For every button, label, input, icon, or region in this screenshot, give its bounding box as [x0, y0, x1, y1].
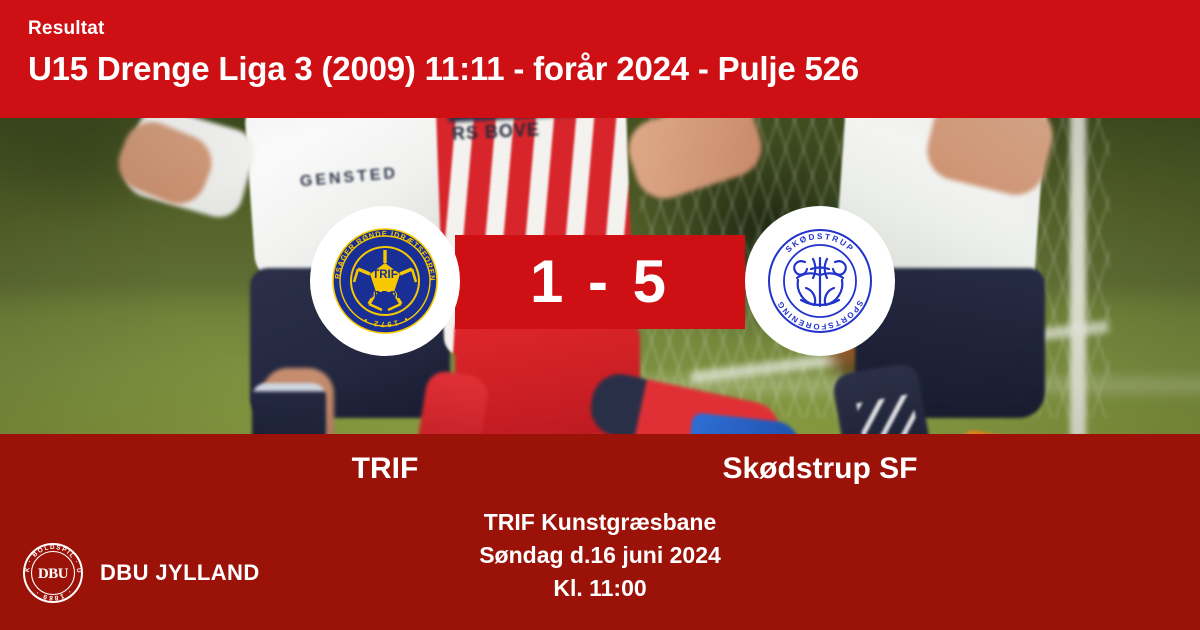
score-value: 1 - 5 — [530, 252, 670, 312]
svg-text:SKØDSTRUP: SKØDSTRUP — [784, 232, 856, 254]
away-team-logo: SKØDSTRUP SPORTSFORENING — [745, 206, 895, 356]
skodstrup-club-crest-icon: SKØDSTRUP SPORTSFORENING — [761, 222, 879, 340]
svg-text:FODBOLD: FODBOLD — [360, 290, 409, 301]
match-venue: TRIF Kunstgræsbane — [0, 506, 1200, 539]
home-team-logo: THORSAGER RØNDE IDRÆTSFORENING • 1972 • … — [310, 206, 460, 356]
svg-text:DBU: DBU — [38, 566, 69, 582]
dbu-footer: DANSK · BOLDSPIL · UNION · 1889 · DBU DB… — [22, 542, 260, 604]
home-team-name: TRIF — [250, 448, 520, 490]
poster-footer: TRIF Skødstrup SF TRIF Kunstgræsbane Søn… — [0, 434, 1200, 630]
away-team-name: Skødstrup SF — [685, 448, 955, 490]
team-names-row: TRIF Skødstrup SF — [0, 448, 1200, 494]
trif-club-crest-icon: THORSAGER RØNDE IDRÆTSFORENING • 1972 • … — [326, 222, 444, 340]
svg-text:TRIF: TRIF — [372, 269, 398, 281]
dbu-badge-icon: DANSK · BOLDSPIL · UNION · 1889 · DBU — [22, 542, 84, 604]
dbu-organisation-label: DBU JYLLAND — [100, 560, 260, 586]
match-result-poster: Resultat U15 Drenge Liga 3 (2009) 11:11 … — [0, 0, 1200, 630]
score-band: 1 - 5 — [455, 235, 745, 329]
page-title: U15 Drenge Liga 3 (2009) 11:11 - forår 2… — [28, 48, 1200, 90]
poster-header: Resultat U15 Drenge Liga 3 (2009) 11:11 … — [0, 0, 1200, 118]
header-kicker: Resultat — [28, 18, 1200, 40]
